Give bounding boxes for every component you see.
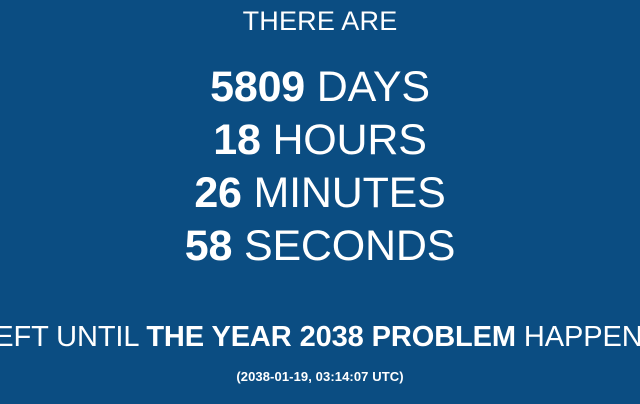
statement-line: LEFT UNTIL THE YEAR 2038 PROBLEM HAPPENS bbox=[0, 321, 640, 354]
countdown-line-seconds: 58 SECONDS bbox=[185, 220, 455, 273]
statement-emphasis-link[interactable]: THE YEAR 2038 PROBLEM bbox=[146, 321, 516, 353]
countdown-unit-seconds: SECONDS bbox=[244, 222, 455, 270]
countdown-unit-days: DAYS bbox=[317, 63, 430, 111]
countdown-value-days: 5809 bbox=[210, 63, 305, 111]
target-timestamp: (2038-01-19, 03:14:07 UTC) bbox=[236, 369, 403, 384]
countdown-line-minutes: 26 MINUTES bbox=[194, 167, 445, 220]
countdown-value-hours: 18 bbox=[213, 116, 260, 164]
countdown-line-hours: 18 HOURS bbox=[213, 114, 426, 167]
statement-suffix: HAPPENS bbox=[516, 321, 640, 353]
statement-prefix: LEFT UNTIL bbox=[0, 321, 146, 353]
countdown-unit-minutes: MINUTES bbox=[254, 169, 446, 217]
countdown-value-minutes: 26 bbox=[194, 169, 241, 217]
countdown-block: 5809 DAYS 18 HOURS 26 MINUTES 58 SECONDS bbox=[185, 61, 455, 273]
countdown-line-days: 5809 DAYS bbox=[210, 61, 430, 114]
countdown-unit-hours: HOURS bbox=[272, 116, 426, 164]
countdown-page: THERE ARE 5809 DAYS 18 HOURS 26 MINUTES … bbox=[0, 0, 640, 404]
countdown-value-seconds: 58 bbox=[185, 222, 232, 270]
page-heading: THERE ARE bbox=[243, 6, 398, 37]
